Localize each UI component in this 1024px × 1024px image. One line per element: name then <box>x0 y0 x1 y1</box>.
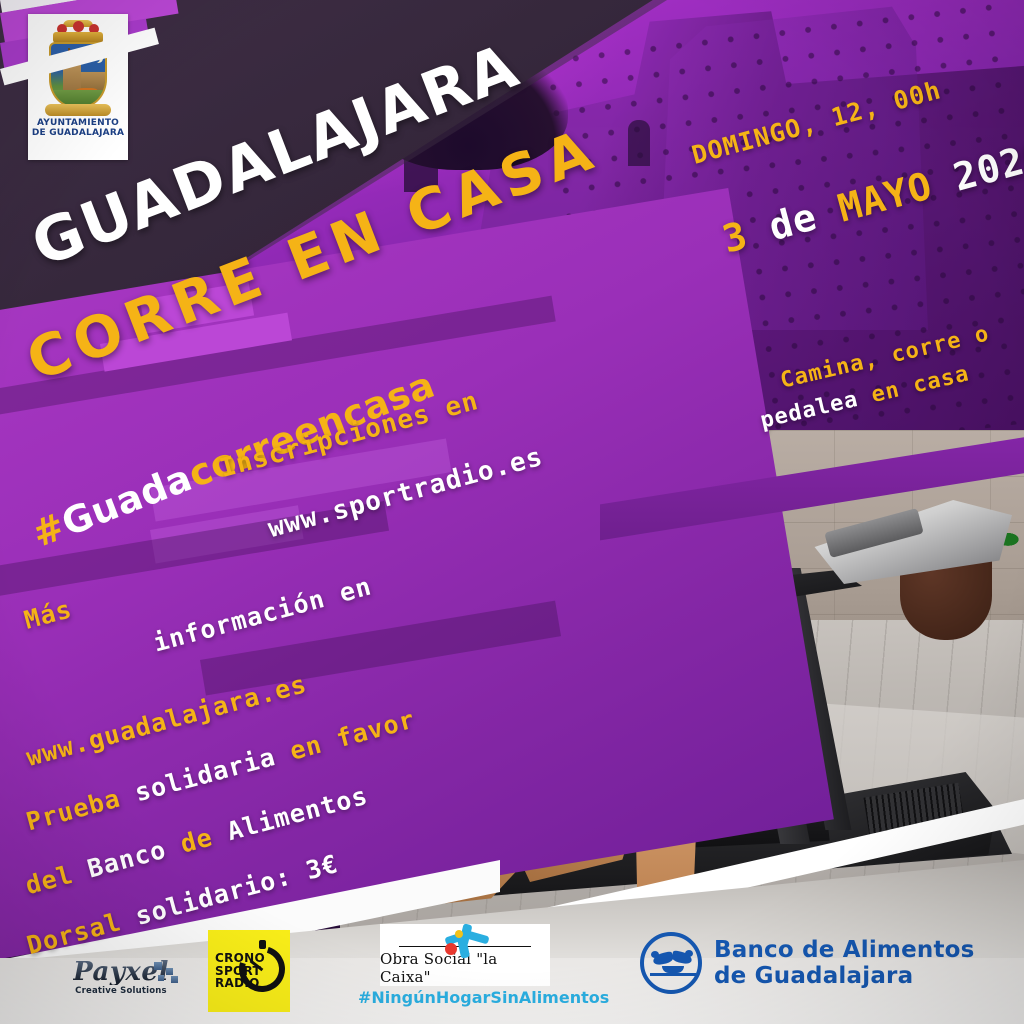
banco-birds-icon <box>640 932 702 994</box>
crown-jewel-2 <box>73 21 84 32</box>
caixa-red-dot-icon <box>445 943 457 955</box>
banco-line1: Banco de Alimentos <box>714 937 975 963</box>
payxel-tagline: Creative Solutions <box>75 986 167 996</box>
banco-text: Banco de Alimentos de Guadalajara <box>714 937 975 990</box>
caixa-hashtag: #NingúnHogarSinAlimentos <box>358 988 609 1007</box>
payxel-squares-icon <box>154 962 180 984</box>
bird-left-head <box>651 951 659 958</box>
building-window-right <box>628 120 650 166</box>
crest-scroll <box>45 104 111 116</box>
bird-right-head <box>685 950 693 957</box>
caixa-yellow-dot-icon <box>455 930 463 938</box>
sponsor-payxel-logo: Payxel Creative Solutions <box>58 952 184 1002</box>
banco-baseline <box>650 973 696 976</box>
stopwatch-stem-icon <box>259 940 266 949</box>
city-crest-logo: AYUNTAMIENTO DE GUADALAJARA <box>28 14 128 160</box>
poster-canvas: AYUNTAMIENTO DE GUADALAJARA GUADALAJARA … <box>0 0 1024 1024</box>
bird-feeding-bowl <box>662 966 684 973</box>
sponsor-banco-alimentos-logo: Banco de Alimentos de Guadalajara <box>640 932 975 994</box>
crest-line-2: DE GUADALAJARA <box>32 128 124 138</box>
sponsor-crono-sport-radio-logo: CRONO SPORT RADIO <box>208 930 290 1012</box>
banco-line2: de Guadalajara <box>714 963 975 989</box>
caixa-star-icon <box>439 924 491 944</box>
sponsor-la-caixa-logo: Obra Social "la Caixa" <box>380 924 550 986</box>
crest-line-1: AYUNTAMIENTO <box>37 118 119 128</box>
